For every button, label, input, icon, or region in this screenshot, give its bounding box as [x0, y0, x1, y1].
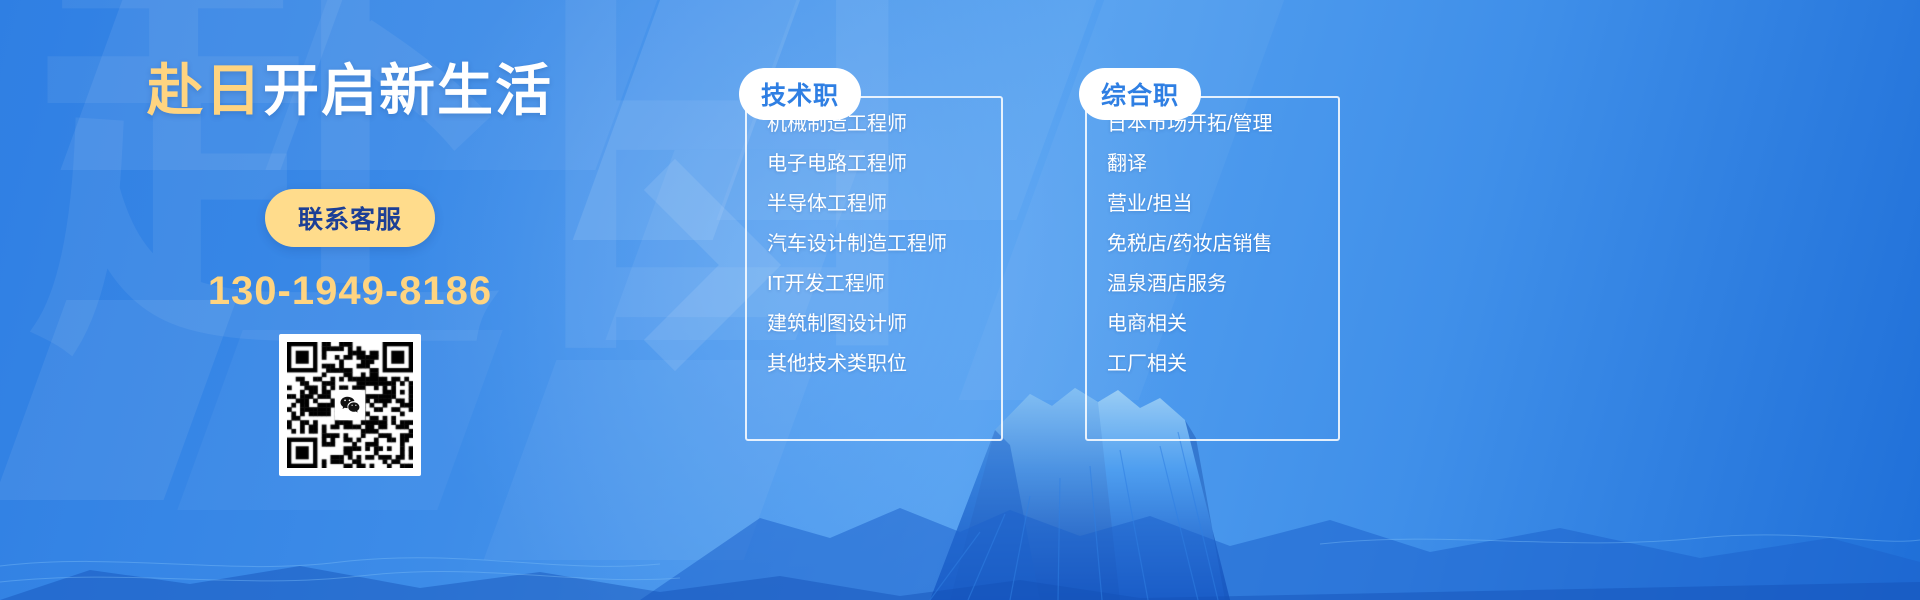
list-item[interactable]: 温泉酒店服务: [1107, 274, 1273, 294]
list-item[interactable]: 营业/担当: [1107, 194, 1273, 214]
list-item[interactable]: 工厂相关: [1107, 354, 1273, 374]
job-column-title-general[interactable]: 综合职: [1079, 68, 1201, 120]
list-item[interactable]: 免税店/药妆店销售: [1107, 234, 1273, 254]
list-item[interactable]: 电商相关: [1107, 314, 1273, 334]
phone-number[interactable]: 130-1949-8186: [0, 269, 700, 314]
page-title: 赴日开启新生活: [0, 46, 700, 127]
job-list-general: 日本市场开拓/管理 翻译 营业/担当 免税店/药妆店销售 温泉酒店服务 电商相关…: [1107, 114, 1273, 394]
list-item[interactable]: 汽车设计制造工程师: [767, 234, 947, 254]
list-item[interactable]: 其他技术类职位: [767, 354, 947, 374]
job-column-title-technical[interactable]: 技术职: [739, 68, 861, 120]
headline-rest: 开启新生活: [263, 59, 553, 122]
list-item[interactable]: 电子电路工程师: [767, 154, 947, 174]
promo-banner: 赴日: [0, 0, 1920, 600]
contact-support-button[interactable]: 联系客服: [265, 189, 435, 247]
list-item[interactable]: IT开发工程师: [767, 274, 947, 294]
list-item[interactable]: 建筑制图设计师: [767, 314, 947, 334]
left-promo-block: 赴日开启新生活 联系客服 130-1949-8186: [0, 0, 700, 600]
job-list-technical: 机械制造工程师 电子电路工程师 半导体工程师 汽车设计制造工程师 IT开发工程师…: [767, 114, 947, 394]
wechat-icon: [335, 390, 365, 420]
list-item[interactable]: 半导体工程师: [767, 194, 947, 214]
list-item[interactable]: 翻译: [1107, 154, 1273, 174]
wechat-qr-code[interactable]: [279, 334, 421, 476]
headline-highlight: 赴日: [147, 59, 263, 122]
